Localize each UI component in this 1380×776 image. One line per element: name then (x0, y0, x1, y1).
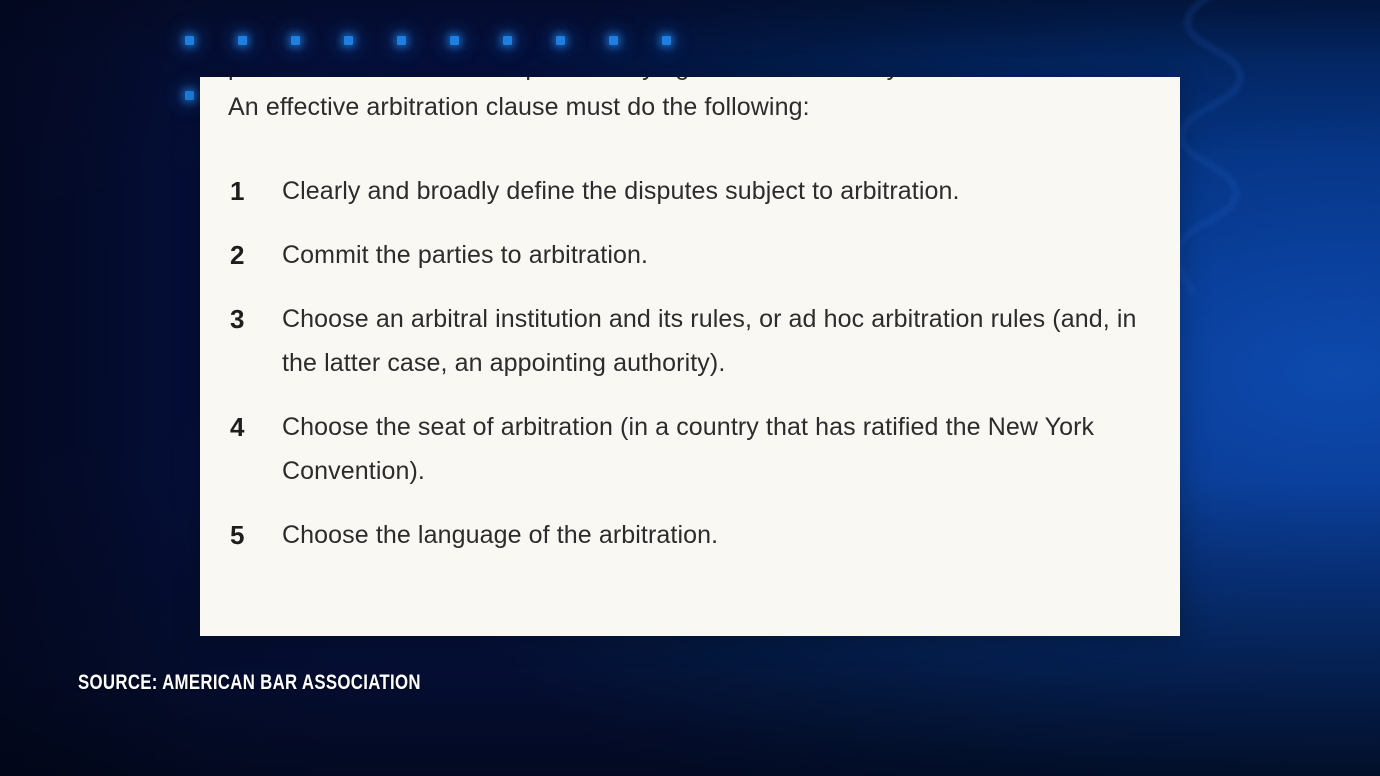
source-attribution: SOURCE: AMERICAN BAR ASSOCIATION (78, 670, 421, 696)
clipped-top-text: period of time in which the parties may … (228, 77, 1180, 84)
list-item-text: Choose an arbitral institution and its r… (282, 297, 1156, 385)
card-intro-text: An effective arbitration clause must do … (228, 91, 810, 124)
numbered-list: 1 Clearly and broadly define the dispute… (228, 169, 1156, 557)
list-item-text: Choose the language of the arbitration. (282, 513, 1156, 557)
list-item-number: 5 (228, 513, 282, 557)
content-card: period of time in which the parties may … (200, 77, 1180, 636)
list-item: 4 Choose the seat of arbitration (in a c… (228, 405, 1156, 493)
list-item-text: Commit the parties to arbitration. (282, 233, 1156, 277)
list-item-number: 4 (228, 405, 282, 449)
list-item-number: 1 (228, 169, 282, 213)
list-item: 2 Commit the parties to arbitration. (228, 233, 1156, 277)
list-item-text: Clearly and broadly define the disputes … (282, 169, 1156, 213)
list-item-number: 2 (228, 233, 282, 277)
list-item: 1 Clearly and broadly define the dispute… (228, 169, 1156, 213)
list-item-number: 3 (228, 297, 282, 341)
list-item-text: Choose the seat of arbitration (in a cou… (282, 405, 1156, 493)
list-item: 3 Choose an arbitral institution and its… (228, 297, 1156, 385)
slide-graphic: period of time in which the parties may … (0, 0, 1380, 776)
list-item: 5 Choose the language of the arbitration… (228, 513, 1156, 557)
